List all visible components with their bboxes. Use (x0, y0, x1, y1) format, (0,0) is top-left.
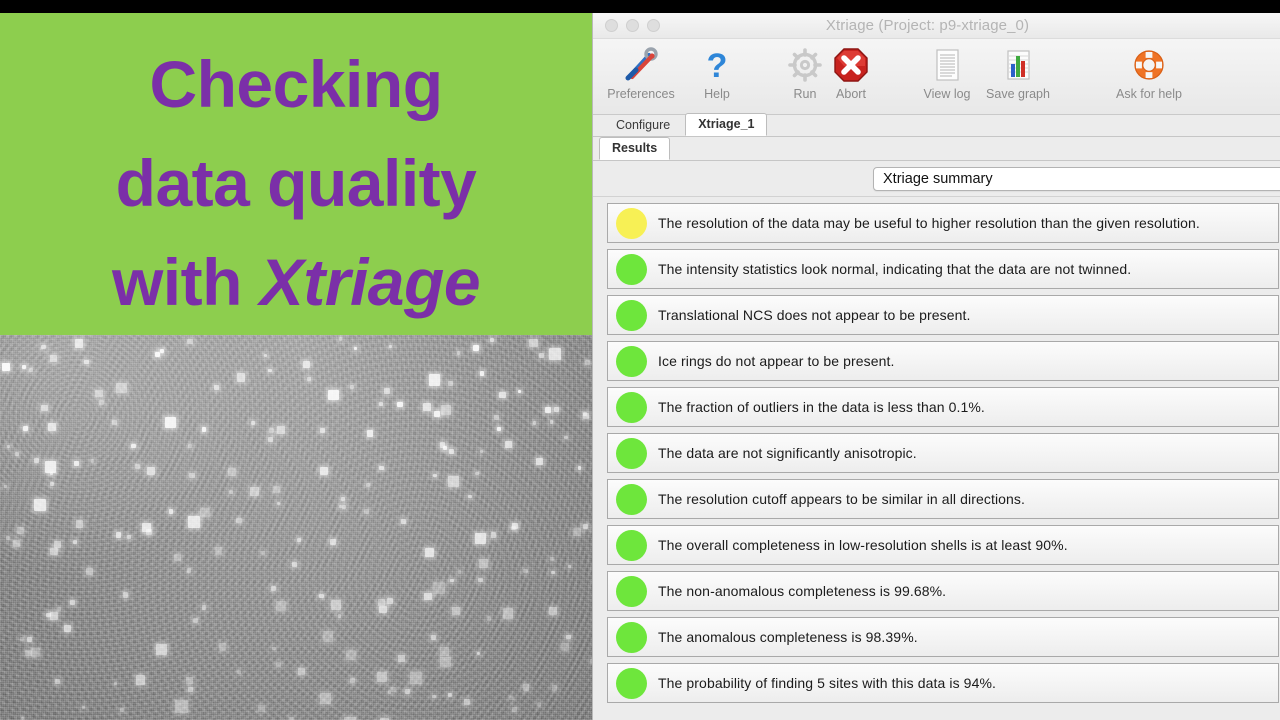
status-warning-icon (616, 208, 647, 239)
diffraction-spot (566, 635, 571, 640)
result-row[interactable]: The anomalous completeness is 98.39%. (607, 617, 1279, 657)
diffraction-spot (564, 436, 568, 440)
chooser-row: Xtriage summary (593, 161, 1280, 197)
result-row[interactable]: The fraction of outliers in the data is … (607, 387, 1279, 427)
diffraction-spot (478, 578, 483, 583)
diffraction-spot (487, 616, 492, 621)
diffraction-spot (34, 458, 40, 464)
diffraction-spot (41, 405, 47, 411)
diffraction-spot (75, 339, 83, 347)
toolbar-button-help[interactable]: ? Help (673, 43, 761, 101)
diffraction-spot (518, 390, 522, 394)
status-ok-icon (616, 622, 647, 653)
result-text: The data are not significantly anisotrop… (658, 445, 917, 461)
toolbar-label-save-graph: Save graph (974, 88, 1062, 101)
diffraction-spot (539, 353, 544, 358)
diffraction-spot (276, 662, 281, 667)
summary-dropdown-value: Xtriage summary (883, 171, 993, 187)
diffraction-spot (142, 523, 150, 531)
diffraction-spot (405, 689, 410, 694)
toolbar-label-preferences: Preferences (597, 88, 685, 101)
diffraction-spot (449, 449, 454, 454)
diffraction-spot (323, 631, 334, 642)
window-titlebar[interactable]: Xtriage (Project: p9-xtriage_0) (593, 13, 1280, 39)
status-ok-icon (616, 530, 647, 561)
diffraction-spot (350, 678, 355, 683)
diffraction-spot (585, 360, 590, 365)
diffraction-spot (330, 539, 336, 545)
diffraction-spot (440, 647, 449, 656)
result-text: The anomalous completeness is 98.39%. (658, 629, 918, 645)
diffraction-spot (341, 497, 345, 501)
diffraction-spot (320, 693, 331, 704)
diffraction-spot (379, 466, 384, 471)
diffraction-spot (320, 467, 329, 476)
toolbar-label-ask-for-help: Ask for help (1105, 88, 1193, 101)
status-ok-icon (616, 392, 647, 423)
diffraction-spot (268, 369, 272, 373)
diffraction-spot (27, 637, 32, 642)
diffraction-spot (391, 687, 396, 692)
result-text: The overall completeness in low-resoluti… (658, 537, 1068, 553)
status-ok-icon (616, 438, 647, 469)
diffraction-spot (573, 528, 581, 536)
diffraction-spot (188, 444, 192, 448)
diffraction-spot (48, 423, 56, 431)
diffraction-spot (258, 705, 266, 713)
title-slide-panel: Checking data quality with Xtriage (0, 13, 592, 335)
diffraction-spot (268, 437, 273, 442)
diffraction-spot (401, 519, 406, 524)
result-row[interactable]: The overall completeness in low-resoluti… (607, 525, 1279, 565)
diffraction-spot (494, 415, 499, 420)
diffraction-spot (189, 473, 195, 479)
diffraction-spot (297, 538, 301, 542)
toolbar-button-preferences[interactable]: Preferences (597, 43, 685, 101)
diffraction-spot (529, 339, 537, 347)
diffraction-spot (398, 655, 405, 662)
diffraction-spot (298, 668, 305, 675)
diffraction-spot (45, 461, 56, 472)
diffraction-spot (490, 338, 495, 343)
diffraction-spot (480, 371, 484, 375)
diffraction-spot (120, 708, 124, 712)
xtriage-window: Xtriage (Project: p9-xtriage_0) (592, 13, 1280, 720)
diffraction-spot (70, 600, 75, 605)
diffraction-spot (505, 441, 513, 449)
status-ok-icon (616, 668, 647, 699)
diffraction-spot (497, 427, 501, 431)
diffraction-spot (64, 625, 71, 632)
diffraction-spot (269, 428, 274, 433)
window-title: Xtriage (Project: p9-xtriage_0) (593, 17, 1280, 34)
preferences-tools-icon (597, 43, 685, 87)
diffraction-spot (552, 685, 557, 690)
diffraction-spot (561, 643, 569, 651)
diffraction-spot (475, 472, 479, 476)
diffraction-spot (545, 407, 551, 413)
result-row[interactable]: The non-anomalous completeness is 99.68%… (607, 571, 1279, 611)
result-text: The resolution cutoff appears to be simi… (658, 491, 1025, 507)
title-line-1: Checking (0, 35, 592, 134)
diffraction-spot (458, 570, 462, 574)
diffraction-spot (215, 547, 223, 555)
diffraction-spot (452, 607, 460, 615)
diffraction-spot (193, 618, 198, 623)
diffraction-image (0, 335, 592, 720)
diffraction-spot (236, 518, 242, 524)
diffraction-spot (389, 345, 393, 349)
diffraction-spot (457, 351, 461, 355)
diffraction-spot (473, 345, 479, 351)
diffraction-spot (84, 360, 88, 364)
diffraction-spot (378, 599, 385, 606)
question-mark-icon: ? (673, 43, 761, 87)
diffraction-spot (387, 598, 393, 604)
result-row[interactable]: Ice rings do not appear to be present. (607, 341, 1279, 381)
diffraction-spot (147, 467, 155, 475)
diffraction-spot (354, 347, 358, 351)
result-row[interactable]: Translational NCS does not appear to be … (607, 295, 1279, 335)
diffraction-spot (480, 450, 484, 454)
diffraction-spot (17, 527, 24, 534)
diffraction-spot (95, 390, 103, 398)
diffraction-spot (441, 405, 451, 415)
diffraction-spot (54, 541, 61, 548)
diffraction-spot (432, 695, 436, 699)
diffraction-spot (475, 533, 486, 544)
status-ok-icon (616, 254, 647, 285)
diffraction-spot (367, 430, 373, 436)
diffraction-spot (549, 348, 561, 360)
diffraction-spot (73, 540, 77, 544)
diffraction-spot (50, 548, 58, 556)
diffraction-spot (165, 417, 176, 428)
diffraction-spot (440, 657, 451, 668)
diffraction-spot (50, 612, 58, 620)
diffraction-spot (76, 520, 84, 528)
diffraction-spot (135, 464, 140, 469)
result-text: Translational NCS does not appear to be … (658, 307, 970, 323)
diffraction-spot (364, 509, 369, 514)
result-row[interactable]: The probability of finding 5 sites with … (607, 663, 1279, 703)
diffraction-spot (440, 442, 445, 447)
diffraction-spot (6, 536, 11, 541)
diffraction-spot (13, 540, 20, 547)
diffraction-spot (15, 452, 19, 456)
secondary-tab-bar: Results (593, 137, 1280, 161)
diffraction-spot (188, 687, 193, 692)
diffraction-spot (273, 486, 280, 493)
diffraction-spot (229, 490, 233, 494)
status-ok-icon (616, 484, 647, 515)
results-list[interactable]: The resolution of the data may be useful… (593, 197, 1280, 717)
result-text: The non-anomalous completeness is 99.68%… (658, 583, 946, 599)
tab-configure[interactable]: Configure (603, 114, 683, 136)
diffraction-spot (50, 355, 57, 362)
diffraction-spot (554, 407, 559, 412)
diffraction-spot (202, 605, 207, 610)
result-text: The probability of finding 5 sites with … (658, 675, 996, 691)
diffraction-spot (491, 532, 497, 538)
diffraction-spot (523, 684, 530, 691)
diffraction-spot (448, 381, 453, 386)
diffraction-spot (410, 672, 422, 684)
diffraction-spot (512, 523, 518, 529)
diffraction-spot (187, 339, 192, 344)
diffraction-spot (29, 368, 33, 372)
diffraction-spot (228, 468, 236, 476)
diffraction-spot (116, 532, 122, 538)
status-ok-icon (616, 346, 647, 377)
diffraction-spot (186, 677, 193, 684)
diffraction-spot (320, 428, 325, 433)
diffraction-spot (583, 412, 587, 416)
toolbar-button-abort[interactable]: Abort (807, 43, 895, 101)
letterbox-bar-top (0, 0, 1280, 13)
summary-dropdown[interactable]: Xtriage summary (873, 167, 1280, 191)
diffraction-spot (433, 474, 437, 478)
diffraction-spot (116, 383, 127, 394)
diffraction-spot (219, 643, 227, 651)
diffraction-spot (250, 487, 259, 496)
diffraction-spot (41, 345, 46, 350)
diffraction-spot (448, 693, 452, 697)
diffraction-spot (156, 644, 167, 655)
diffraction-spot (169, 509, 173, 513)
diffraction-spot (331, 600, 341, 610)
diffraction-spot (550, 420, 553, 423)
diffraction-spot (583, 524, 588, 529)
diffraction-spot (21, 717, 24, 720)
diffraction-spot (86, 568, 93, 575)
title-emphasis: Xtriage (260, 245, 480, 319)
main-toolbar: Preferences ? Help (593, 39, 1280, 115)
diffraction-spot (431, 635, 436, 640)
diffraction-spot (292, 562, 298, 568)
bar-chart-icon (974, 43, 1062, 87)
diffraction-spot (174, 554, 181, 561)
diffraction-spot (424, 593, 432, 601)
primary-tab-bar: Configure Xtriage_1 (593, 115, 1280, 137)
diffraction-spot (131, 444, 136, 449)
result-text: The intensity statistics look normal, in… (658, 261, 1131, 277)
diffraction-spot (271, 586, 276, 591)
diffraction-spot (200, 508, 210, 518)
diffraction-spot (342, 505, 345, 508)
toolbar-label-abort: Abort (807, 88, 895, 101)
diffraction-spot (277, 426, 286, 435)
title-line-3-text: with (112, 245, 260, 319)
diffraction-spot (155, 352, 160, 357)
tab-xtriage-1[interactable]: Xtriage_1 (685, 113, 767, 136)
diffraction-spot (366, 483, 370, 487)
diffraction-spot (537, 702, 542, 707)
result-row[interactable]: The resolution of the data may be useful… (607, 203, 1279, 243)
diffraction-spot (512, 707, 518, 713)
diffraction-spot (276, 601, 286, 611)
diffraction-spot (319, 594, 324, 599)
svg-text:?: ? (707, 47, 728, 84)
diffraction-spot (350, 385, 355, 390)
result-text: Ice rings do not appear to be present. (658, 353, 895, 369)
result-text: The fraction of outliers in the data is … (658, 399, 985, 415)
diffraction-spot (251, 421, 256, 426)
diffraction-spot (523, 569, 528, 574)
diffraction-spot (379, 606, 386, 613)
diffraction-spot (127, 535, 131, 539)
diffraction-spot (448, 476, 459, 487)
diffraction-spot (2, 363, 10, 371)
diffraction-spot (136, 675, 146, 685)
diffraction-spot (328, 390, 338, 400)
diffraction-spot (509, 696, 514, 701)
toolbar-button-save-graph[interactable]: Save graph (974, 43, 1062, 101)
diffraction-spot (464, 699, 470, 705)
diffraction-spot (450, 579, 454, 583)
toolbar-label-help: Help (673, 88, 761, 101)
diffraction-spot (202, 427, 206, 431)
diffraction-spot (397, 402, 403, 408)
diffraction-spot (338, 614, 341, 617)
diffraction-spot (99, 400, 104, 405)
diffraction-spot (423, 403, 431, 411)
diffraction-spot (160, 349, 164, 353)
diffraction-spot (549, 607, 557, 615)
diffraction-spot (20, 637, 24, 641)
life-ring-icon (1105, 43, 1193, 87)
diffraction-spot (503, 608, 513, 618)
diffraction-spot (188, 516, 200, 528)
diffraction-spot (468, 495, 472, 499)
diffraction-spot (425, 548, 434, 557)
diffraction-spot (175, 700, 188, 713)
diffraction-spot (214, 385, 219, 390)
diffraction-spot (123, 592, 128, 597)
stop-x-icon (807, 43, 895, 87)
diffraction-spot (433, 582, 445, 594)
result-row[interactable]: The intensity statistics look normal, in… (607, 249, 1279, 289)
diffraction-spot (74, 461, 79, 466)
diffraction-spot (34, 499, 46, 511)
diffraction-spot (303, 361, 310, 368)
diffraction-spot (536, 458, 543, 465)
diffraction-spot (479, 559, 488, 568)
diffraction-spot (57, 607, 61, 611)
diffraction-spot (429, 374, 441, 386)
diffraction-spot (237, 670, 241, 674)
page-title: Checking data quality with Xtriage (0, 35, 592, 332)
diffraction-spot (551, 571, 555, 575)
diffraction-spot (237, 373, 246, 382)
diffraction-spot (4, 485, 7, 488)
diffraction-spot (272, 647, 275, 650)
diffraction-spot (550, 557, 554, 561)
status-ok-icon (616, 300, 647, 331)
diffraction-spot (377, 672, 387, 682)
diffraction-spot (55, 679, 60, 684)
diffraction-spot (91, 459, 95, 463)
result-text: The resolution of the data may be useful… (658, 215, 1200, 231)
diffraction-spot (50, 482, 55, 487)
diffraction-spot (477, 652, 480, 655)
diffraction-spot (384, 388, 389, 393)
title-line-2: data quality (0, 134, 592, 233)
tab-results[interactable]: Results (599, 137, 670, 160)
toolbar-button-ask-for-help[interactable]: Ask for help (1105, 43, 1193, 101)
diffraction-spot (339, 337, 343, 341)
status-ok-icon (616, 576, 647, 607)
result-row[interactable]: The data are not significantly anisotrop… (607, 433, 1279, 473)
diffraction-spot (22, 365, 26, 369)
diffraction-spot (346, 650, 356, 660)
result-row[interactable]: The resolution cutoff appears to be simi… (607, 479, 1279, 519)
diffraction-spot (261, 551, 265, 555)
diffraction-spot (187, 568, 192, 573)
diffraction-spot (434, 411, 440, 417)
diffraction-spot (499, 392, 506, 399)
title-line-3: with Xtriage (0, 233, 592, 332)
diffraction-spot (23, 426, 28, 431)
diffraction-spot (25, 650, 32, 657)
screen-root: Checking data quality with Xtriage Xtria… (0, 0, 1280, 720)
diffraction-spot (379, 402, 383, 406)
diffraction-spot (31, 648, 40, 657)
diffraction-spot (533, 421, 537, 425)
